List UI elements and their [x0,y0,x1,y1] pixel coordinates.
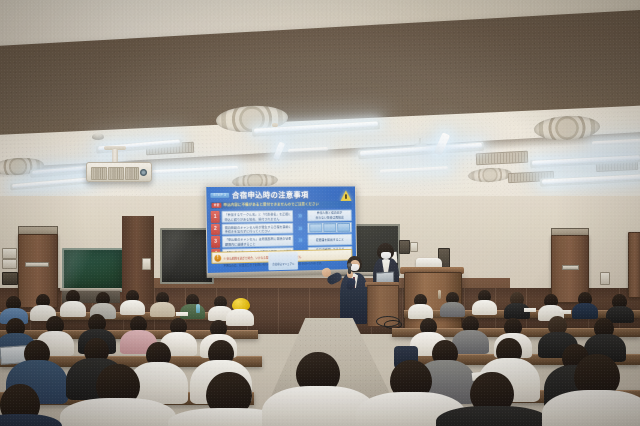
audience-body [60,398,176,426]
slide-row-result [307,222,352,234]
slide-row-body: 宿泊施設のキャンセル料が発生する日程を事前に確認 手続きを忘れずに行ってください [222,222,294,234]
chalkboard-green [62,248,124,292]
water-bottle [196,304,200,313]
projector-vent-icon [91,167,107,180]
slide-footer: 合宿申込マニュアル [268,252,298,270]
slide-title-bar: STEP 3 合宿申込時の注意事項 [210,189,351,201]
projector-vent-icon [125,167,139,180]
handout-paper [524,308,536,312]
slide-subhead-bar: 重要 申込内容に不備があると受付できませんのでご注意ください [210,201,351,209]
handout-paper [176,312,188,316]
slide-footer-text: 合宿申込マニュアル [272,262,294,265]
slide-row-number: 2 [211,223,220,235]
wall-switch[interactable] [410,242,418,252]
microphone-icon [348,265,351,274]
light-switch-panel[interactable] [2,248,17,259]
speaker-stem [419,138,421,144]
slide-result-line: 合わない場合は再提出 [315,215,343,220]
far-right-door[interactable] [628,232,640,298]
right-door-plate[interactable] [562,265,579,270]
slide-subhead-text: 申込内容に不備があると受付できませんのでご注意ください [223,202,319,208]
left-door-push-bar[interactable] [25,262,49,267]
audience-body [120,300,145,315]
projector [86,162,152,182]
lecture-hall-photo: STEP 3 合宿申込時の注意事項 重要 申込内容に不備があると受付できませんの… [0,0,640,426]
face-mask-icon [381,252,391,259]
slide-row-line: 申込に誤りがある場合、受付されません [225,217,291,223]
slide-result-chips [309,223,350,232]
audience-body [572,303,598,319]
slide-step-tag: STEP 3 [210,193,229,198]
slide-result-line: 変更届を提出すること [316,237,344,242]
light-switch-panel[interactable] [2,259,17,269]
audience-body [436,406,550,426]
slide-row-number: 3 [211,236,220,248]
slide-row-result: 参加人数と宿泊日が 合わない場合は再提出 [307,210,352,222]
wall-control-panel[interactable] [2,272,18,285]
slide-row-body: 「参加するサークル名」と「代表者名」を正確に記入 申込に誤りがある場合、受付され… [222,210,294,222]
audience-body [60,301,86,317]
slide-title: 合宿申込時の注意事項 [232,190,309,201]
exclamation-icon: ! [214,254,221,261]
slide-row-number: 1 [211,211,220,223]
audience-body [408,304,433,319]
lectern-handle[interactable] [438,290,441,299]
chevron-right-icon: » [295,222,306,233]
slide-chip [309,223,322,232]
warning-triangle-icon [340,190,351,201]
slide-chip [337,223,350,232]
chevron-right-icon: » [295,210,306,221]
ceiling-speaker-icon [92,133,104,140]
slide-row: 1 「参加するサークル名」と「代表者名」を正確に記入 申込に誤りがある場合、受付… [211,210,352,223]
audience-body [440,302,465,317]
audience-body [472,300,497,315]
audience-body [226,309,254,326]
projector-mount-pole [112,149,118,163]
pillar-switch[interactable] [142,258,151,270]
projection-screen: STEP 3 合宿申込時の注意事項 重要 申込内容に不備があると受付できませんの… [205,185,357,277]
projector-lens-icon [140,169,147,176]
slide-content: STEP 3 合宿申込時の注意事項 重要 申込内容に不備があると受付できませんの… [206,186,356,273]
projector-vent-icon [108,167,124,180]
slide-chip [323,223,336,232]
audience-body [542,390,640,426]
wall-switch[interactable] [600,272,610,285]
wall-box[interactable] [399,240,410,254]
light-housing [272,123,278,127]
handout-paper [560,310,571,314]
audience-body [150,302,175,317]
slide-subhead-chip: 重要 [212,203,222,208]
audience-body [0,414,62,426]
